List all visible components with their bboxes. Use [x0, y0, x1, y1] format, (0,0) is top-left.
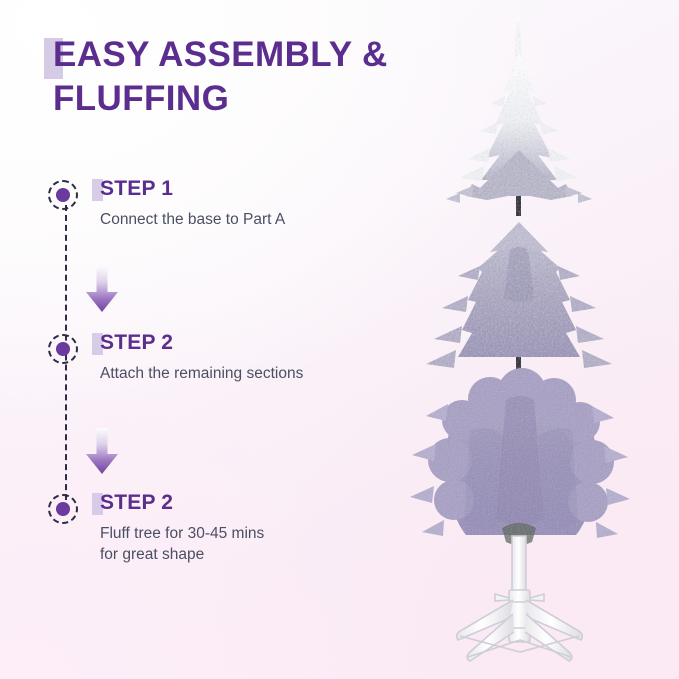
step-label-wrap-2: STEP 2 [92, 330, 173, 356]
step-marker-center [56, 502, 70, 516]
step-label-wrap-1: STEP 1 [92, 176, 173, 202]
tree-top-section [446, 23, 592, 217]
step-marker-center [56, 342, 70, 356]
step-marker-center [56, 188, 70, 202]
step-description-3: Fluff tree for 30-45 mins for great shap… [100, 523, 412, 565]
tree-stand [457, 536, 583, 661]
tree-middle-section [426, 222, 612, 375]
step-label-wrap-3: STEP 2 [92, 490, 173, 516]
step-label-2: STEP 2 [100, 331, 173, 354]
step-marker-dot-icon [46, 178, 84, 216]
step-description-2: Attach the remaining sections [100, 363, 412, 384]
step-body-1: STEP 1 Connect the base to Part A [92, 176, 412, 230]
tree-bottom-section [410, 368, 630, 545]
infographic-canvas: EASY ASSEMBLY & FLUFFING STEP 1 Connect … [0, 0, 679, 679]
step-description-1: Connect the base to Part A [100, 209, 412, 230]
steps-timeline: STEP 1 Connect the base to Part A [0, 0, 420, 679]
flocked-christmas-tree-photo [410, 0, 679, 679]
arrow-down-icon [85, 428, 119, 474]
step-marker-dot-icon [46, 332, 84, 370]
step-label-3: STEP 2 [100, 491, 173, 514]
step-label-1: STEP 1 [100, 177, 173, 200]
step-body-2: STEP 2 Attach the remaining sections [92, 330, 412, 384]
step-marker-dot-icon [46, 492, 84, 530]
step-body-3: STEP 2 Fluff tree for 30-45 mins for gre… [92, 490, 412, 565]
arrow-down-icon [85, 266, 119, 312]
